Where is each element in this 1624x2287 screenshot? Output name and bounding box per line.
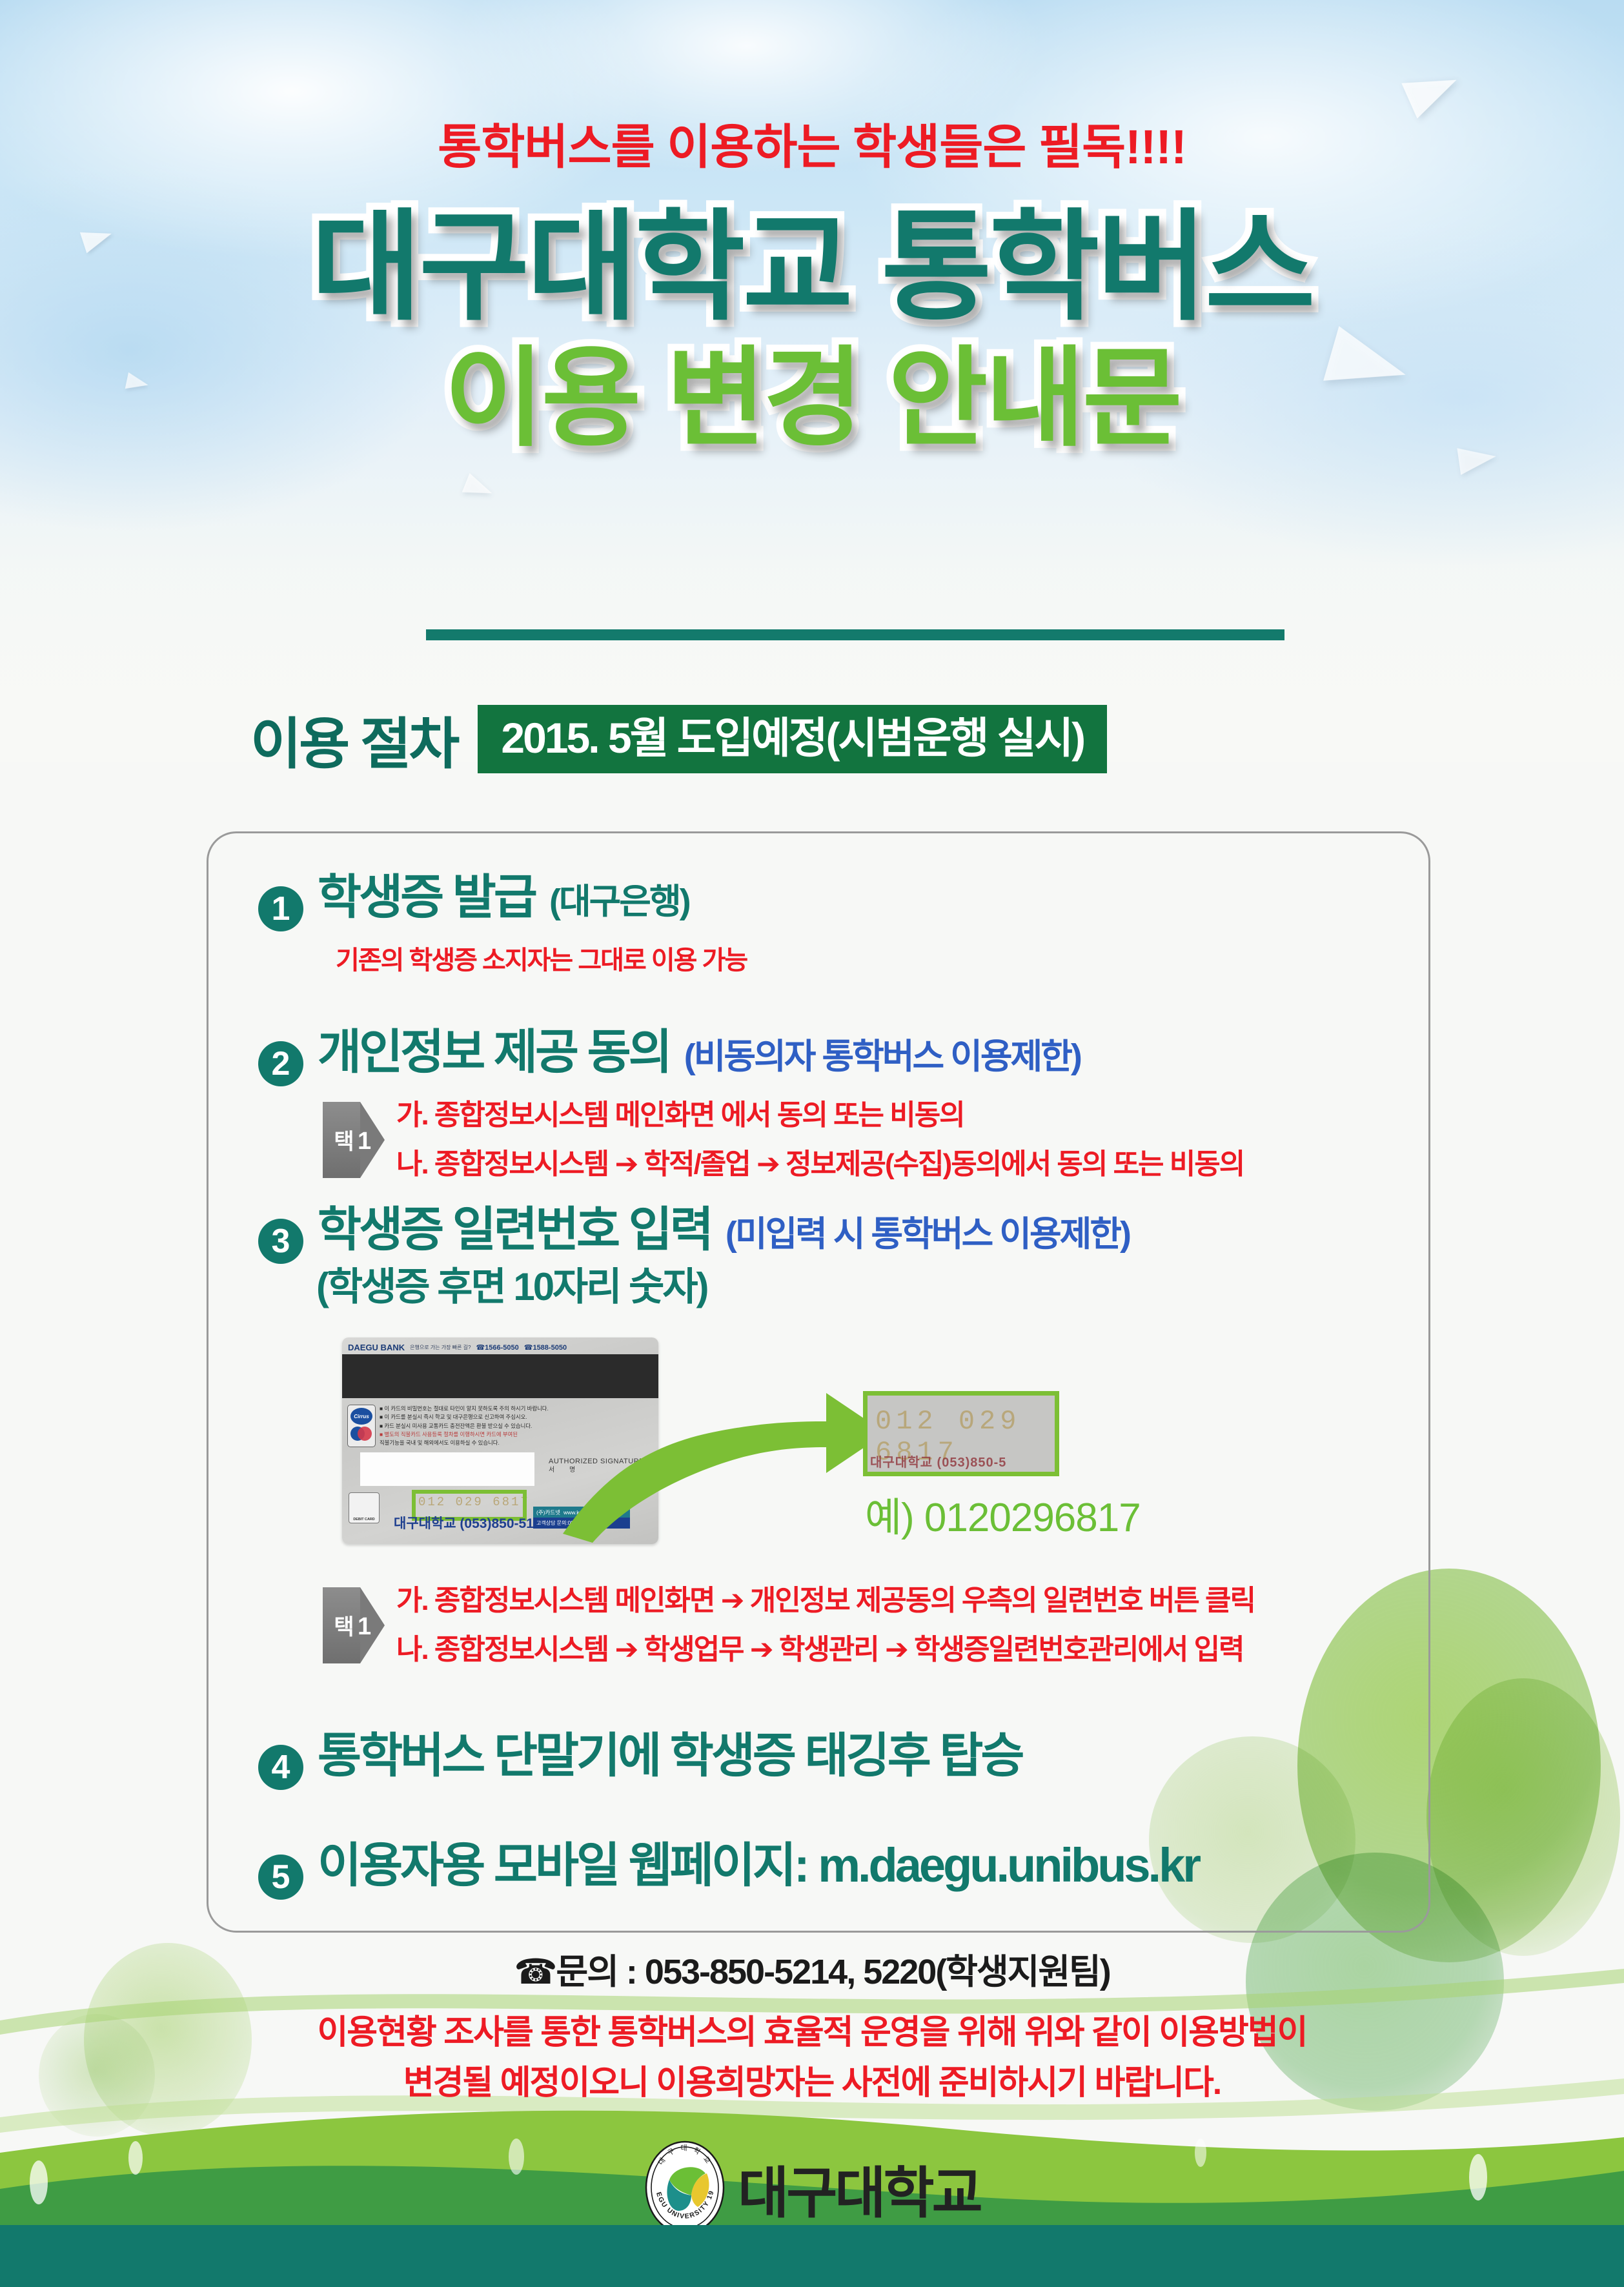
pick-one-group: 택 1 가. 종합정보시스템 메인화면 ➔ 개인정보 제공동의 우측의 일련번호…: [323, 1576, 1255, 1674]
brand-name-text: 대구대학교: [738, 2148, 980, 2228]
pick-option: 나. 종합정보시스템 ➔ 학생업무 ➔ 학생관리 ➔ 학생증일련번호관리에서 입…: [396, 1625, 1255, 1674]
title-line-2: 이용 변경 안내문: [0, 343, 1624, 454]
warning-line-1: 이용현황 조사를 통한 통학버스의 효율적 운영을 위해 위와 같이 이용방법이: [0, 2007, 1624, 2058]
debit-card-label: DEBIT CARD: [349, 1518, 379, 1521]
card-bank-header: DAEGU BANK 은행으로 가는 가장 빠른 길? ☎1566-5050 ☎…: [342, 1341, 658, 1354]
title-divider: [426, 629, 1284, 640]
pick-arrow-icon: 택 1: [323, 1102, 385, 1178]
step-title: 학생증 발급: [318, 859, 535, 928]
card-university-tel: 대구대학교 (053)850-5114: [394, 1513, 548, 1532]
step-second-line: (학생증 후면 10자리 숫자): [316, 1255, 707, 1312]
step-item-5: 5 이용자용 모바일 웹페이지: m.daegu.unibus.kr: [258, 1827, 1199, 1896]
step-title: 학생증 일련번호 입력: [318, 1191, 711, 1260]
pick-number: 1: [358, 1128, 371, 1155]
pick-option: 가. 종합정보시스템 메인화면 에서 동의 또는 비동의: [396, 1091, 1244, 1140]
warning-line-2: 변경될 예정이오니 이용희망자는 사전에 준비하시기 바랍니다.: [0, 2058, 1624, 2108]
pick-one-group: 택 1 가. 종합정보시스템 메인화면 에서 동의 또는 비동의 나. 종합정보…: [323, 1091, 1244, 1188]
step-number-badge: 3: [258, 1219, 303, 1264]
step-number-badge: 1: [258, 886, 303, 931]
kicker-text: 통학버스를 이용하는 학생들은 필독!!!!: [0, 108, 1624, 178]
step-item-2: 2 개인정보 제공 동의 (비동의자 통학버스 이용제한): [258, 1013, 1081, 1083]
step-number-badge: 4: [258, 1745, 303, 1790]
step-title: 이용자용 모바일 웹페이지: m.daegu.unibus.kr: [318, 1827, 1199, 1896]
poster-title: 대구대학교 통학버스 이용 변경 안내문: [0, 207, 1624, 454]
pick-number: 1: [358, 1613, 371, 1641]
warning-text: 이용현황 조사를 통한 통학버스의 효율적 운영을 위해 위와 같이 이용방법이…: [0, 2007, 1624, 2108]
maestro-icon: [350, 1427, 372, 1443]
green-arrow-icon: [555, 1354, 891, 1548]
step-paren: (미입력 시 통학버스 이용제한): [726, 1205, 1130, 1256]
debit-card-badge: DEBIT CARD: [349, 1492, 380, 1523]
contact-line: ☎문의 : 053-850-5214, 5220(학생지원팀): [0, 1943, 1624, 1994]
section-badge: 2015. 5월 도입예정(시범운행 실시): [478, 705, 1107, 773]
serial-example-text: 예) 0120296817: [865, 1485, 1141, 1543]
pick-option: 가. 종합정보시스템 메인화면 ➔ 개인정보 제공동의 우측의 일련번호 버튼 …: [396, 1576, 1255, 1625]
card-bank-slogan: 은행으로 가는 가장 빠른 길?: [410, 1344, 471, 1351]
card-bank-name: DAEGU BANK: [348, 1343, 405, 1352]
step-number-badge: 5: [258, 1855, 303, 1900]
section-header: 이용 절차 2015. 5월 도입예정(시범운행 실시): [250, 698, 1107, 779]
step-item-3: 3 학생증 일련번호 입력 (미입력 시 통학버스 이용제한): [258, 1191, 1130, 1260]
card-tel-2: ☎1588-5050: [524, 1343, 567, 1352]
section-label: 이용 절차: [250, 698, 457, 779]
debit-symbol-icon: [354, 1496, 373, 1512]
cirrus-icon: Cirrus: [350, 1408, 372, 1425]
pick-option: 나. 종합정보시스템 ➔ 학적/졸업 ➔ 정보제공(수집)동의에서 동의 또는 …: [396, 1140, 1244, 1189]
bottom-bar: [0, 2225, 1624, 2287]
step-title: 개인정보 제공 동의: [318, 1013, 670, 1083]
step-paren: (비동의자 통학버스 이용제한): [684, 1028, 1081, 1079]
step-paren: (대구은행): [549, 873, 689, 924]
step-title: 통학버스 단말기에 학생증 태깅후 탑승: [318, 1717, 1022, 1786]
serial-zoom-callout: 012 029 6817 대구대학교 (053)850-5: [863, 1391, 1059, 1476]
step-note: 기존의 학생증 소지자는 그대로 이용 가능: [336, 939, 747, 977]
daegu-university-logo-icon: 대 구 대 학 교 DAEGU UNIVERSITY 1956: [644, 2140, 726, 2235]
card-signature-box: [360, 1452, 534, 1486]
card-tel-1: ☎1566-5050: [476, 1343, 518, 1352]
poster-root: 통학버스를 이용하는 학생들은 필독!!!! 대구대학교 통학버스 이용 변경 …: [0, 0, 1624, 2287]
step-item-4: 4 통학버스 단말기에 학생증 태깅후 탑승: [258, 1717, 1022, 1786]
step-item-1: 1 학생증 발급 (대구은행): [258, 859, 689, 928]
serial-zoom-below: 대구대학교 (053)850-5: [870, 1452, 1006, 1470]
pick-arrow-icon: 택 1: [323, 1587, 385, 1663]
card-network-logos: Cirrus: [347, 1405, 376, 1447]
title-line-1: 대구대학교 통학버스: [311, 201, 1313, 334]
step-number-badge: 2: [258, 1041, 303, 1086]
watercolor-blob: [1426, 1678, 1620, 1956]
university-brand: 대 구 대 학 교 DAEGU UNIVERSITY 1956 대구대학교: [0, 2140, 1624, 2235]
